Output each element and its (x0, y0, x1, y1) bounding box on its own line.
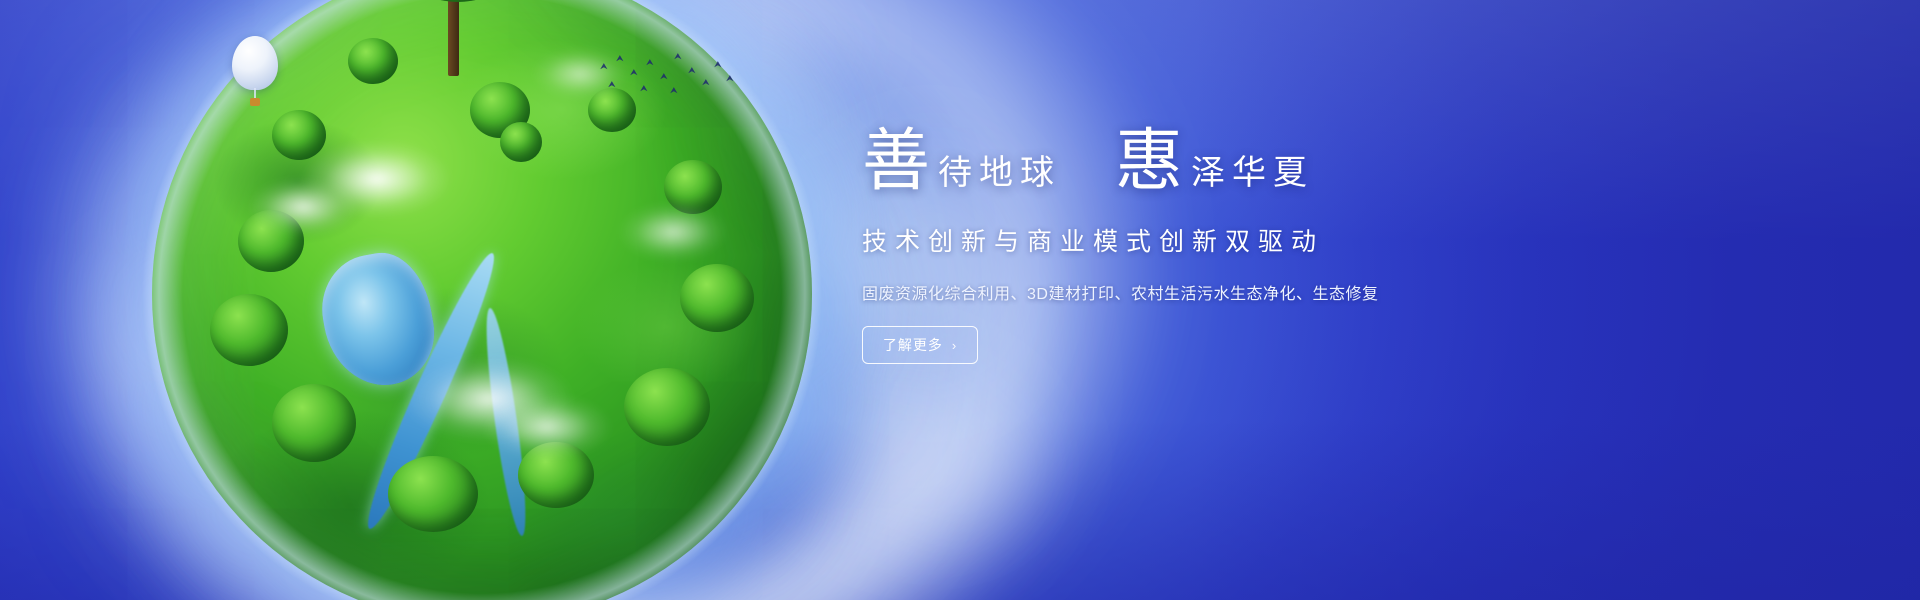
headline-part1-small: 待地球 (930, 156, 1061, 196)
headline-part2-small: 泽华夏 (1183, 156, 1314, 196)
subtitle: 技术创新与商业模式创新双驱动 (862, 222, 1562, 258)
headline-part1-large: 善 (862, 128, 930, 196)
hot-air-balloon-icon (232, 36, 278, 90)
learn-more-button[interactable]: 了解更多 › (862, 326, 978, 364)
chevron-right-icon: › (952, 338, 957, 353)
headline-part2-large: 惠 (1115, 128, 1183, 196)
hero-content: 善 待地球 惠 泽华夏 技术创新与商业模式创新双驱动 固废资源化综合利用、3D建… (862, 128, 1562, 364)
learn-more-label: 了解更多 (883, 335, 943, 355)
bird-flock-icon: ⮝ ⮝ ⮝ ⮝ ⮝ ⮝ ⮝ ⮝ ⮝ ⮝ ⮝ ⮝ ⮝ (596, 48, 736, 94)
hero-banner: ⮝ ⮝ ⮝ ⮝ ⮝ ⮝ ⮝ ⮝ ⮝ ⮝ ⮝ ⮝ ⮝ 善 待地球 惠 泽华夏 技术… (0, 0, 1920, 600)
description: 固废资源化综合利用、3D建材打印、农村生活污水生态净化、生态修复 (862, 280, 1562, 304)
headline: 善 待地球 惠 泽华夏 (862, 128, 1562, 196)
balloon-basket (250, 98, 260, 106)
